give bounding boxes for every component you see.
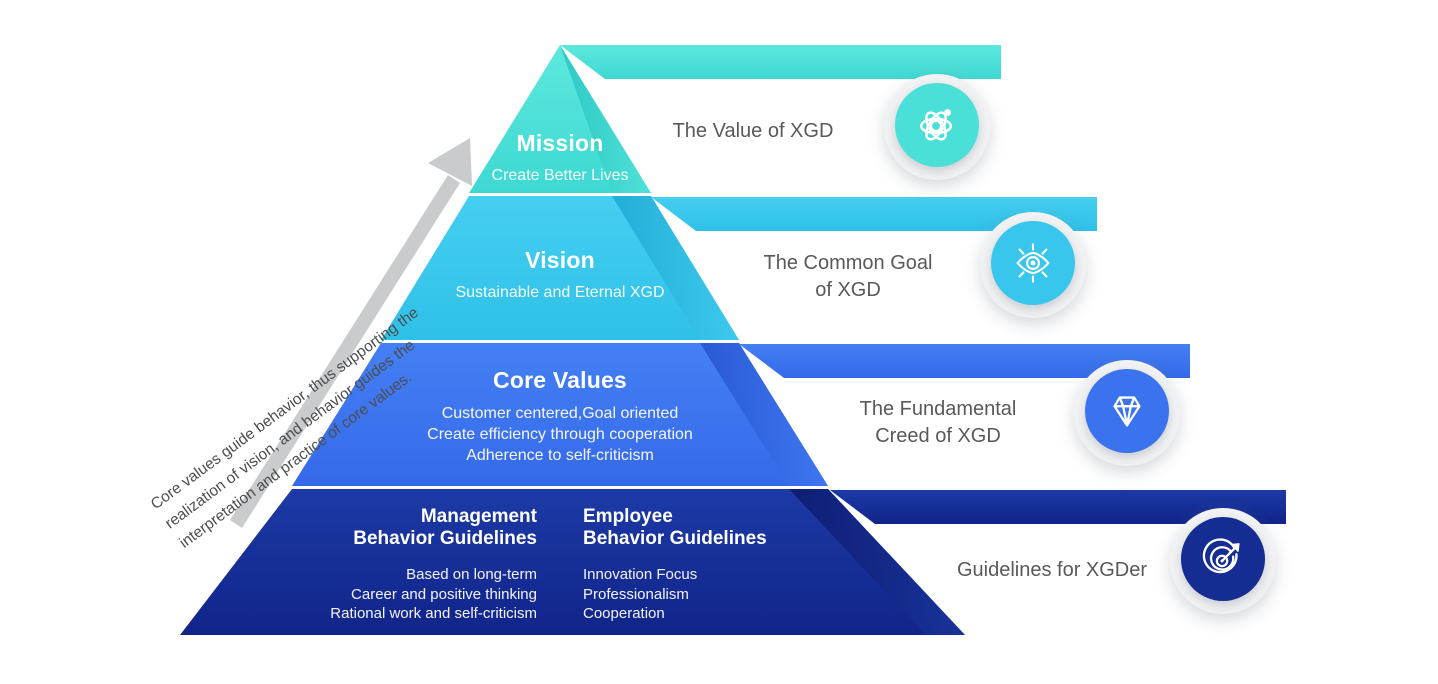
atom-icon (895, 83, 979, 167)
target-arrow-icon (1181, 517, 1265, 601)
tier-title-vision: Vision (460, 248, 660, 272)
guidelines-column-items-employee: Innovation Focus Professionalism Coopera… (583, 565, 843, 624)
badge-core-values[interactable] (1074, 360, 1180, 466)
pyramid-diagram: Core values guide behavior, thus support… (0, 0, 1438, 684)
badge-vision[interactable] (980, 212, 1086, 318)
badge-guidelines[interactable] (1170, 508, 1276, 614)
tier-subtitle-core-values: Customer centered,Goal oriented Create e… (420, 404, 700, 466)
tier-subtitle-vision: Sustainable and Eternal XGD (430, 283, 690, 303)
guidelines-column-items-management: Based on long-term Career and positive t… (285, 565, 537, 624)
guidelines-column-title-management: Management Behavior Guidelines (325, 506, 537, 551)
tier-subtitle-mission: Create Better Lives (450, 166, 670, 186)
guidelines-column-title-employee: Employee Behavior Guidelines (583, 506, 843, 551)
tier-title-mission: Mission (460, 131, 660, 155)
tier-title-core-values: Core Values (460, 368, 660, 392)
right-label-vision: The Common Goal of XGD (735, 250, 961, 304)
right-label-mission: The Value of XGD (640, 118, 866, 145)
right-label-guidelines: Guidelines for XGDer (933, 557, 1171, 584)
diamond-icon (1085, 369, 1169, 453)
eye-vision-icon (991, 221, 1075, 305)
right-label-core-values: The Fundamental Creed of XGD (825, 396, 1051, 450)
badge-mission[interactable] (884, 74, 990, 180)
